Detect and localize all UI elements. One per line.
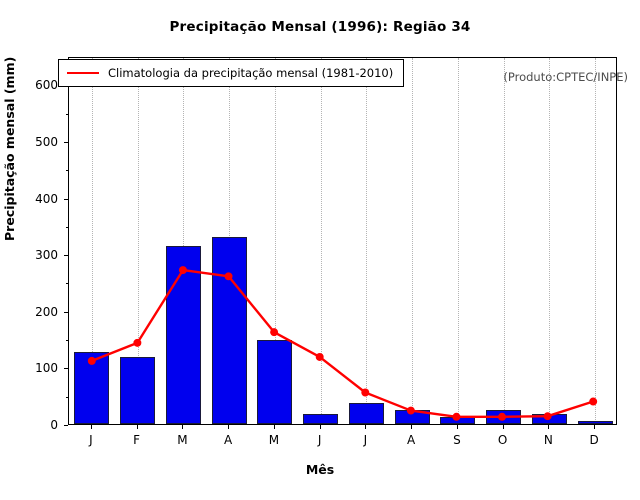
y-tick-label: 500 (0, 135, 58, 149)
x-tick-label-8: S (437, 433, 477, 447)
legend: Climatologia da precipitação mensal (198… (58, 59, 404, 87)
x-tick-label-9: O (483, 433, 523, 447)
bar-O-9 (486, 410, 521, 424)
x-tick-label-7: A (391, 433, 431, 447)
y-tick-label: 200 (0, 305, 58, 319)
x-tick-mark (320, 425, 321, 429)
chart-figure: Precipitação Mensal (1996): Região 34 Pr… (0, 0, 640, 500)
gridline-vertical (321, 58, 323, 424)
x-tick-label-10: N (528, 433, 568, 447)
legend-item-label: Climatologia da precipitação mensal (198… (108, 66, 393, 80)
x-tick-mark (137, 425, 138, 429)
x-tick-label-6: J (345, 433, 385, 447)
bar-J-6 (349, 403, 384, 424)
gridline-vertical (504, 58, 506, 424)
bar-S-8 (440, 417, 475, 424)
x-tick-label-3: A (208, 433, 248, 447)
gridline-vertical (549, 58, 551, 424)
bar-A-3 (212, 237, 247, 424)
x-tick-mark (594, 425, 595, 429)
gridline-vertical (595, 58, 597, 424)
plot-area (68, 57, 617, 425)
x-tick-label-5: J (300, 433, 340, 447)
plot-inner (69, 58, 616, 424)
bar-M-2 (166, 246, 201, 424)
gridline-vertical (458, 58, 460, 424)
x-axis-label: Mês (0, 462, 640, 477)
bar-J-0 (74, 352, 109, 424)
x-tick-label-0: J (71, 433, 111, 447)
y-tick-mark (64, 425, 68, 426)
x-tick-mark (548, 425, 549, 429)
bar-N-10 (532, 414, 567, 424)
bar-J-5 (303, 414, 338, 424)
bar-D-11 (578, 421, 613, 424)
bar-M-4 (257, 340, 292, 424)
gridline-vertical (412, 58, 414, 424)
x-tick-mark (182, 425, 183, 429)
gridline-vertical (366, 58, 368, 424)
x-tick-label-4: M (254, 433, 294, 447)
producer-annotation: (Produto:CPTEC/INPE) (503, 70, 628, 84)
x-tick-mark (274, 425, 275, 429)
x-tick-label-1: F (117, 433, 157, 447)
x-tick-label-11: D (574, 433, 614, 447)
y-tick-label: 0 (0, 418, 58, 432)
x-tick-mark (503, 425, 504, 429)
bar-A-7 (395, 410, 430, 424)
y-tick-label: 300 (0, 248, 58, 262)
chart-title: Precipitação Mensal (1996): Região 34 (0, 19, 640, 35)
x-tick-mark (457, 425, 458, 429)
x-tick-mark (411, 425, 412, 429)
y-tick-label: 400 (0, 192, 58, 206)
bar-F-1 (120, 357, 155, 424)
x-tick-mark (228, 425, 229, 429)
y-tick-label: 100 (0, 361, 58, 375)
y-tick-label: 600 (0, 78, 58, 92)
x-tick-mark (365, 425, 366, 429)
red-line-swatch (67, 72, 99, 74)
x-tick-mark (91, 425, 92, 429)
x-tick-label-2: M (162, 433, 202, 447)
